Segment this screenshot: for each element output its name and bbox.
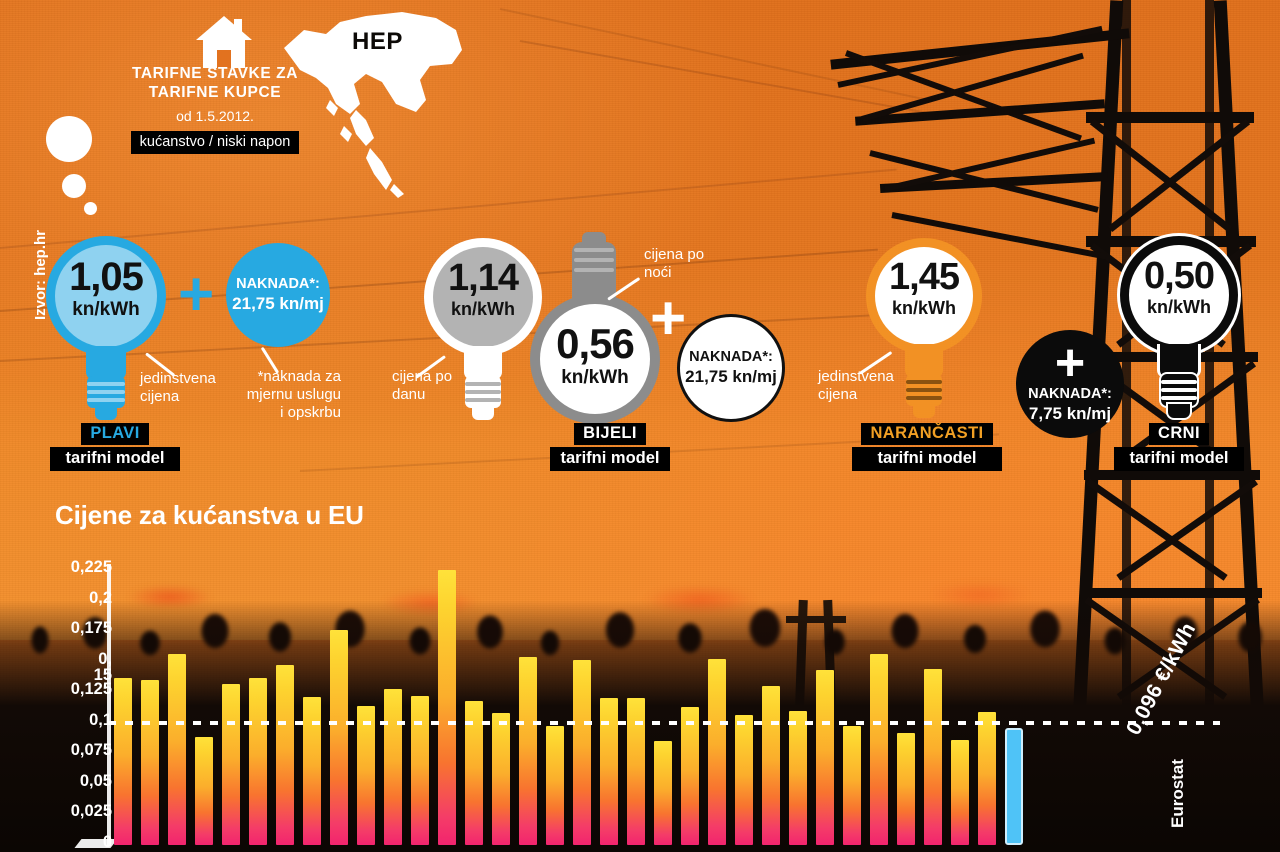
chart-bar <box>897 733 915 845</box>
narancasti-value-block: 1,45 kn/kWh <box>866 259 982 318</box>
crni-fee-label: NAKNADA*: <box>1028 385 1112 403</box>
plavi-fee-amount: 21,75 kn/mj <box>232 293 324 314</box>
y-axis-tick: 0,1 <box>12 712 112 729</box>
bijeli-fee-amount: 21,75 kn/mj <box>685 366 777 387</box>
chart-bar <box>816 670 834 845</box>
plavi-unit: kn/kWh <box>46 300 166 320</box>
bijeli-model-name: BIJELI <box>574 423 646 445</box>
chart-bar <box>438 570 456 845</box>
chart-bar <box>222 684 240 845</box>
bijeli-night-note: cijena po noći <box>644 246 754 282</box>
plavi-note-line2: cijena <box>140 388 179 405</box>
plavi-model-name: PLAVI <box>81 423 148 445</box>
bijeli-night-note-line2: noći <box>644 264 672 281</box>
bulb-bijeli-night: 0,56 kn/kWh <box>530 232 660 432</box>
narancasti-note-line2: cijena <box>818 386 857 403</box>
plavi-value-block: 1,05 kn/kWh <box>46 258 166 320</box>
model-badge-bijeli: BIJELI tarifni model <box>550 423 670 471</box>
chart-y-axis: 00,0250,050,0750,10,1250,150,1750,20,225 <box>0 556 112 852</box>
chart-bar-croatia <box>1005 728 1023 845</box>
y-axis-tick: 0,175 <box>12 620 112 637</box>
y-axis-tick: 0,2 <box>12 590 112 607</box>
chart-bar <box>951 740 969 845</box>
chart-bar <box>519 657 537 845</box>
chart-bar <box>249 678 267 845</box>
model-badge-crni: CRNI tarifni model <box>1114 423 1244 471</box>
chart-bar <box>411 696 429 845</box>
y-axis-tick: 0,15 <box>12 651 112 684</box>
chart-bar <box>654 741 672 845</box>
chart-bar <box>168 654 186 845</box>
model-badge-plavi: PLAVI tarifni model <box>50 423 180 471</box>
decorative-bubble-large <box>46 116 92 162</box>
chart-bar <box>303 697 321 845</box>
bijeli-night-price: 0,56 <box>530 324 660 364</box>
y-axis-tick: 0,225 <box>12 559 112 576</box>
fee-circle-bijeli: NAKNADA*: 21,75 kn/mj <box>677 314 785 422</box>
bijeli-model-sub: tarifni model <box>550 447 670 471</box>
y-axis-tick: 0,025 <box>12 803 112 820</box>
chart-bar <box>573 660 591 845</box>
plavi-note: jedinstvena cijena <box>140 370 250 406</box>
bijeli-day-note-line2: danu <box>392 386 425 403</box>
decorative-bubble-medium <box>62 174 86 198</box>
crni-value-block: 0,50 kn/kWh <box>1120 258 1238 317</box>
bijeli-night-unit: kn/kWh <box>530 368 660 388</box>
chart-bar <box>276 665 294 845</box>
bijeli-day-value-block: 1,14 kn/kWh <box>424 260 542 319</box>
crni-model-sub: tarifni model <box>1114 447 1244 471</box>
chart-title: Cijene za kućanstva u EU <box>55 500 364 531</box>
bijeli-night-note-line1: cijena po <box>644 246 704 263</box>
source-credit-right: Eurostat <box>1168 759 1188 828</box>
chart-bar <box>492 713 510 845</box>
chart-bar <box>870 654 888 845</box>
bijeli-day-note-line1: cijena po <box>392 368 452 385</box>
x-axis-foot <box>74 839 117 848</box>
chart-bar <box>762 686 780 845</box>
crni-model-name: CRNI <box>1149 423 1209 445</box>
model-badge-narancasti: NARANČASTI tarifni model <box>852 423 1002 471</box>
brand-label: HEP <box>352 28 403 56</box>
decorative-bubble-small <box>84 202 97 215</box>
y-axis-line <box>107 564 111 846</box>
chart-bar <box>681 707 699 845</box>
fee-circle-plavi: NAKNADA*: 21,75 kn/mj <box>226 243 330 347</box>
plus-sign-bijeli: + <box>650 288 686 350</box>
chart-bar <box>114 678 132 845</box>
crni-unit: kn/kWh <box>1120 298 1238 317</box>
crni-price: 0,50 <box>1120 258 1238 294</box>
y-axis-tick: 0,05 <box>12 773 112 790</box>
plavi-fee-note: *naknada za mjernu uslugu i opskrbu <box>241 368 341 422</box>
eu-household-prices-chart: 00,0250,050,0750,10,1250,150,1750,20,225 <box>0 556 1280 852</box>
plavi-fee-note-line2: mjernu uslugu <box>247 386 341 403</box>
bijeli-fee-label: NAKNADA*: <box>685 348 777 366</box>
fee-circle-crni: + NAKNADA*: 7,75 kn/mj <box>1016 330 1124 438</box>
crni-fee-amount: 7,75 kn/mj <box>1028 403 1112 424</box>
bijeli-day-unit: kn/kWh <box>424 300 542 319</box>
narancasti-model-name: NARANČASTI <box>861 423 992 445</box>
chart-bar <box>708 659 726 845</box>
chart-bar <box>843 726 861 845</box>
plus-sign-plavi: + <box>178 264 214 326</box>
y-axis-tick: 0,075 <box>12 742 112 759</box>
plavi-price: 1,05 <box>46 258 166 296</box>
chart-bar <box>141 680 159 845</box>
bulb-crni: 0,50 kn/kWh <box>1120 236 1238 426</box>
bijeli-night-value-block: 0,56 kn/kWh <box>530 324 660 388</box>
plus-sign-crni: + <box>1055 337 1085 389</box>
chart-bar <box>735 715 753 845</box>
narancasti-unit: kn/kWh <box>866 299 982 318</box>
reference-line-0.1 <box>108 721 1220 725</box>
plavi-model-sub: tarifni model <box>50 447 180 471</box>
bijeli-day-note: cijena po danu <box>392 368 502 404</box>
house-icon <box>196 16 252 68</box>
plavi-fee-note-line1: *naknada za <box>258 368 341 385</box>
chart-bar <box>546 726 564 845</box>
chart-bar <box>195 737 213 845</box>
chart-bar <box>789 711 807 845</box>
chart-bar <box>384 689 402 845</box>
narancasti-note: jedinstvena cijena <box>818 368 928 404</box>
plavi-note-line1: jedinstvena <box>140 370 216 387</box>
narancasti-note-line1: jedinstvena <box>818 368 894 385</box>
narancasti-model-sub: tarifni model <box>852 447 1002 471</box>
narancasti-price: 1,45 <box>866 259 982 295</box>
chart-bar <box>330 630 348 845</box>
chart-bar <box>357 706 375 845</box>
plavi-fee-note-line3: i opskrbu <box>280 404 341 421</box>
plavi-fee-label: NAKNADA*: <box>232 275 324 293</box>
chart-bar <box>978 712 996 845</box>
bijeli-day-price: 1,14 <box>424 260 542 296</box>
chart-bar <box>924 669 942 845</box>
